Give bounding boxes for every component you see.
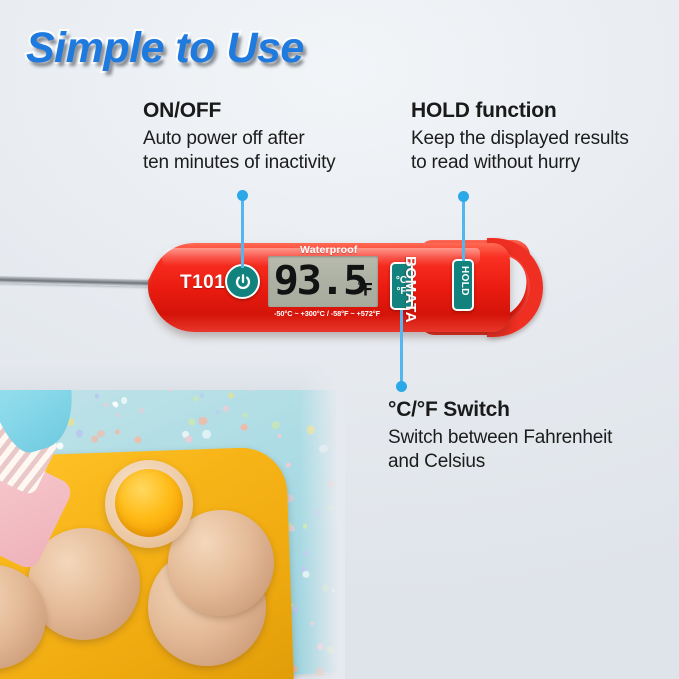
callout-onoff-body-line2: ten minutes of inactivity	[143, 151, 335, 175]
floral-print-dot	[200, 393, 205, 398]
floral-print-dot	[198, 417, 207, 426]
floral-print-dot	[75, 429, 83, 437]
callout-cf: °C/°F Switch Switch between Fahrenheit a…	[388, 398, 612, 474]
cracked-egg-shell	[105, 460, 193, 548]
floral-print-dot	[91, 435, 99, 443]
floral-print-dot	[241, 424, 248, 431]
floral-print-dot	[188, 418, 196, 426]
lcd-display: 93.5 °F	[268, 256, 378, 307]
floral-print-dot	[272, 421, 281, 430]
photo-edge-fade	[299, 360, 345, 679]
floral-print-dot	[114, 430, 119, 435]
callout-cf-body-line1: Switch between Fahrenheit	[388, 426, 612, 450]
floral-print-dot	[288, 525, 295, 532]
temperature-range-label: -50°C ~ +300°C / -58°F ~ +572°F	[264, 309, 390, 318]
power-icon	[234, 273, 252, 291]
egg-yolk	[115, 469, 183, 537]
floral-print-dot	[242, 412, 248, 418]
callout-onoff-heading: ON/OFF	[143, 99, 335, 124]
floral-print-dot	[193, 396, 198, 401]
floral-print-dot	[215, 410, 219, 414]
floral-print-dot	[185, 435, 192, 442]
power-button[interactable]	[225, 264, 260, 299]
lcd-unit-letter: F	[363, 281, 373, 301]
floral-print-dot	[115, 413, 120, 418]
callout-onoff-body-line1: Auto power off after	[143, 127, 335, 151]
floral-print-dot	[286, 462, 291, 467]
floral-print-dot	[121, 397, 128, 404]
lcd-unit-label: °F	[357, 282, 373, 300]
page-title: Simple to Use	[26, 24, 304, 73]
infographic-canvas: Simple to Use T101 Waterproof 93.5 °F	[0, 0, 679, 679]
device-model-label: T101	[180, 272, 225, 294]
callout-hold-body-line2: to read without hurry	[411, 151, 629, 175]
callout-hold-heading: HOLD function	[411, 99, 629, 124]
leader-line-onoff	[241, 196, 244, 268]
floral-print-dot	[134, 436, 141, 443]
floral-print-dot	[223, 406, 229, 412]
floral-print-dot	[277, 434, 282, 439]
floral-print-dot	[95, 394, 99, 398]
floral-print-dot	[139, 408, 145, 414]
floral-print-dot	[104, 403, 108, 407]
leader-dot-cf	[396, 381, 407, 392]
floral-print-dot	[228, 392, 235, 399]
floral-print-dot	[202, 429, 211, 438]
callout-cf-heading: °C/°F Switch	[388, 398, 612, 423]
counter-surface	[0, 360, 345, 390]
callout-hold: HOLD function Keep the displayed results…	[411, 99, 629, 175]
floral-print-dot	[113, 403, 118, 408]
waterproof-label: Waterproof	[300, 244, 358, 256]
callout-hold-body-line1: Keep the displayed results	[411, 127, 629, 151]
callout-onoff-body: Auto power off after ten minutes of inac…	[143, 127, 335, 176]
callout-onoff: ON/OFF Auto power off after ten minutes …	[143, 99, 335, 175]
callout-cf-body: Switch between Fahrenheit and Celsius	[388, 426, 612, 475]
leader-dot-hold	[458, 191, 469, 202]
callout-cf-body-line2: and Celsius	[388, 450, 612, 474]
floral-print-dot	[56, 442, 64, 450]
floral-print-dot	[97, 430, 105, 438]
leader-dot-onoff	[237, 190, 248, 201]
hold-button-label: HOLD	[459, 266, 470, 296]
brand-label: BOMATA	[402, 256, 419, 323]
floral-print-dot	[291, 606, 299, 614]
hold-button[interactable]: HOLD	[452, 259, 474, 311]
kitchen-photo	[0, 360, 345, 679]
leader-line-hold	[462, 197, 465, 261]
lcd-temperature-value: 93.5	[273, 257, 367, 305]
leader-line-cf	[400, 310, 403, 385]
callout-hold-body: Keep the displayed results to read witho…	[411, 127, 629, 176]
